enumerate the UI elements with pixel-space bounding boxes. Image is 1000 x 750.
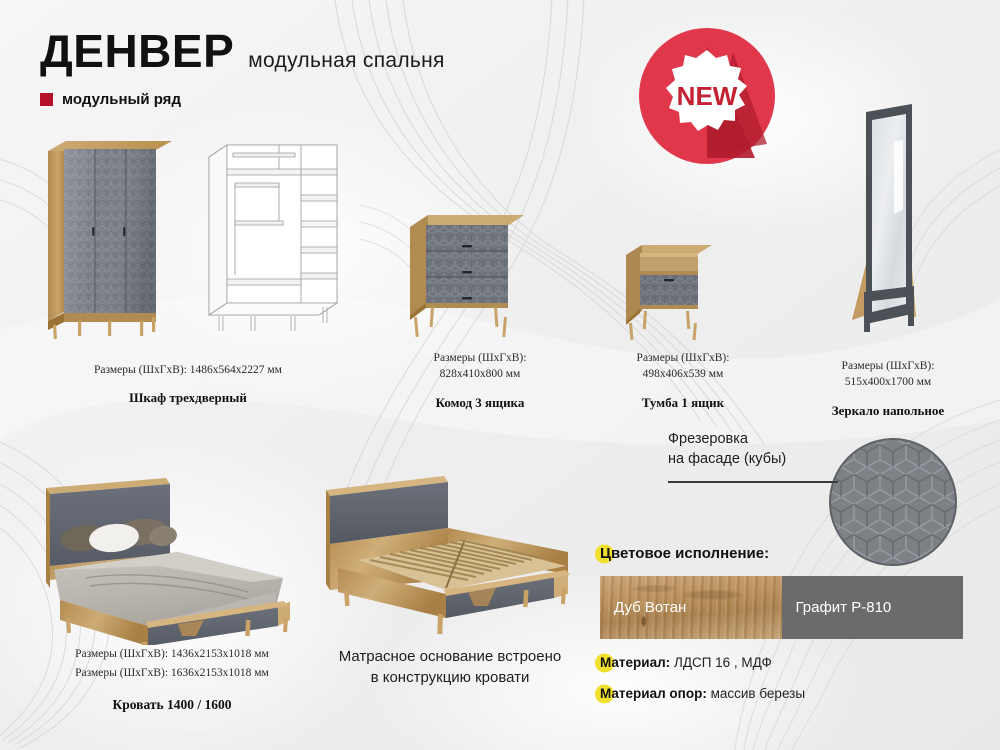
dresser-name: Комод 3 ящика: [380, 395, 580, 411]
milling-callout: Фрезеровка на фасаде (кубы): [668, 430, 848, 483]
mirror-dimensions-value: 515x400x1700 мм: [788, 374, 988, 390]
mattress-base-note: Матрасное основание встроено в конструкц…: [305, 646, 595, 689]
dresser-dimensions-label: Размеры (ШхГхВ):: [380, 350, 580, 366]
bed-dimensions-1600: Размеры (ШхГхВ): 1636x2153x1018 мм: [22, 664, 322, 683]
bed-dimensions-1400: Размеры (ШхГхВ): 1436x2153x1018 мм: [22, 645, 322, 664]
nightstand-name: Тумба 1 ящик: [588, 395, 778, 411]
nightstand-dimensions-value: 498x406x539 мм: [588, 366, 778, 382]
wardrobe-image: [48, 135, 208, 350]
legs-material-line: Материал опор: массив березы: [600, 686, 965, 701]
product-caption-mirror: Размеры (ШхГхВ): 515x400x1700 мм Зеркало…: [788, 358, 988, 419]
wardrobe-dimensions: Размеры (ШхГхВ): 1486x564x2227 мм: [18, 362, 358, 378]
legs-material-value: массив березы: [711, 686, 805, 701]
mirror-name: Зеркало напольное: [788, 403, 988, 419]
milling-line-2: на фасаде (кубы): [668, 450, 848, 470]
bed-made-image: [38, 470, 313, 650]
modular-row-label: модульный ряд: [62, 91, 181, 108]
wardrobe-name: Шкаф трехдверный: [18, 390, 358, 406]
new-badge: NEW: [637, 26, 777, 166]
product-caption-nightstand: Размеры (ШхГхВ): 498x406x539 мм Тумба 1 …: [588, 350, 778, 411]
nightstand-image: [620, 235, 720, 350]
mirror-image: [830, 92, 950, 342]
material-label: Материал:: [600, 655, 670, 670]
page-subtitle: модульная спальня: [248, 49, 444, 73]
swatch-graphite[interactable]: Графит Р-810: [782, 576, 964, 639]
product-caption-bed: Размеры (ШхГхВ): 1436x2153x1018 мм Разме…: [22, 645, 322, 713]
color-swatch-row: Дуб Вотан Графит Р-810: [600, 576, 963, 639]
mattress-note-line-2: в конструкцию кровати: [305, 667, 595, 688]
material-value: ЛДСП 16 , МДФ: [674, 655, 772, 670]
bed-name: Кровать 1400 / 1600: [22, 697, 322, 713]
bed-frame-image: [318, 468, 588, 648]
dresser-dimensions-value: 828x410x800 мм: [380, 366, 580, 382]
swatch-oak-votan[interactable]: Дуб Вотан: [600, 576, 782, 639]
title-row: ДЕНВЕР модульная спальня: [40, 28, 445, 74]
modular-row-tag: модульный ряд: [40, 91, 445, 108]
legs-material-label: Материал опор:: [600, 686, 707, 701]
mattress-note-line-1: Матрасное основание встроено: [305, 646, 595, 667]
page-title: ДЕНВЕР: [40, 28, 234, 74]
page-header: ДЕНВЕР модульная спальня модульный ряд: [40, 28, 445, 108]
swatch-graphite-label: Графит Р-810: [782, 599, 892, 616]
milling-divider: [668, 481, 838, 483]
nightstand-dimensions-label: Размеры (ШхГхВ):: [588, 350, 778, 366]
product-caption-wardrobe: Размеры (ШхГхВ): 1486x564x2227 мм Шкаф т…: [18, 362, 358, 406]
wardrobe-wireframe-drawing: [205, 135, 345, 345]
material-line: Материал: ЛДСП 16 , МДФ: [600, 655, 965, 670]
milling-line-1: Фрезеровка: [668, 430, 848, 450]
color-title-rest: ветовое исполнение:: [611, 545, 769, 562]
square-bullet-icon: [40, 93, 53, 106]
new-badge-label: NEW: [677, 81, 738, 111]
swatch-oak-label: Дуб Вотан: [600, 599, 686, 616]
dresser-image: [400, 205, 530, 350]
color-section-title: Цветовое исполнение:: [600, 545, 965, 562]
product-caption-dresser: Размеры (ШхГхВ): 828x410x800 мм Комод 3 …: [380, 350, 580, 411]
mirror-dimensions-label: Размеры (ШхГхВ):: [788, 358, 988, 374]
color-title-first-letter: Ц: [600, 545, 611, 562]
color-section: Цветовое исполнение: Дуб Вотан Графит Р-…: [600, 545, 965, 701]
